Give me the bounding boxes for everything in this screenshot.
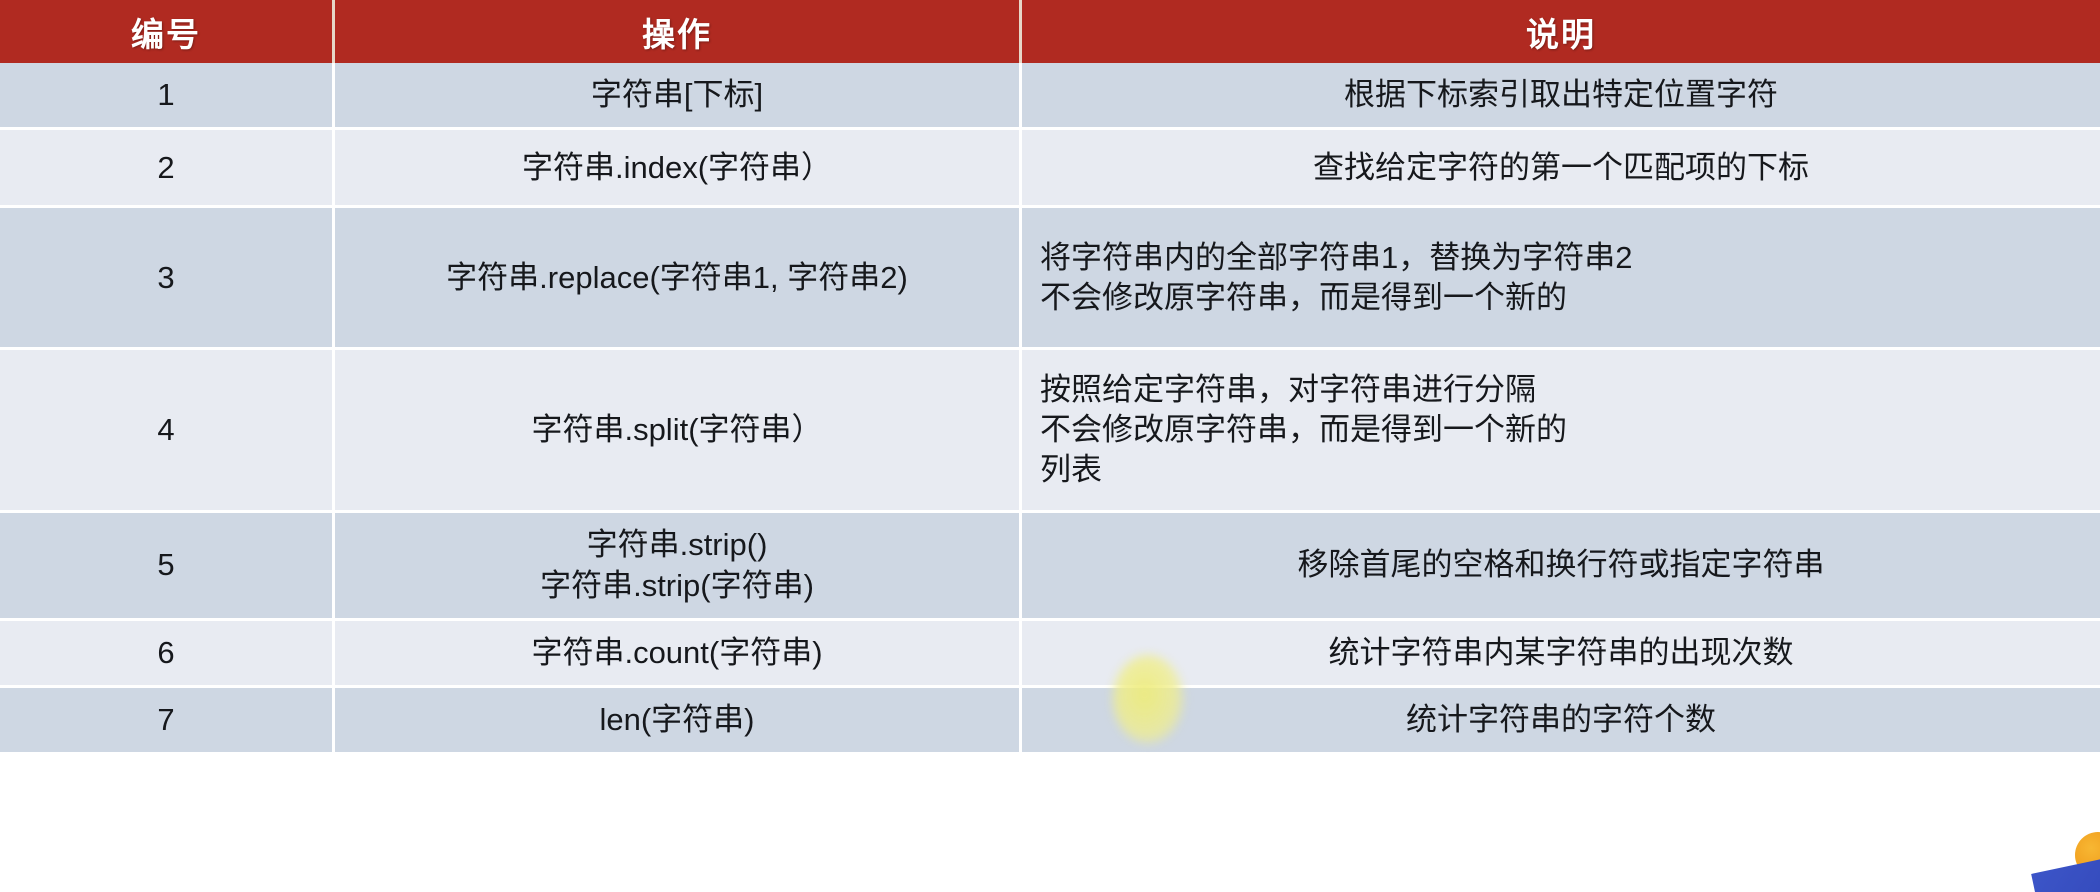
table-row: 2 字符串.index(字符串） 查找给定字符的第一个匹配项的下标 [0,130,2100,208]
cell-description: 按照给定字符串，对字符串进行分隔 不会修改原字符串，而是得到一个新的 列表 [1022,350,2100,513]
cell-operation: 字符串[下标] [335,63,1022,130]
cell-operation: 字符串.replace(字符串1, 字符串2) [335,208,1022,350]
table-row: 5 字符串.strip() 字符串.strip(字符串) 移除首尾的空格和换行符… [0,513,2100,621]
cell-number: 5 [0,513,335,621]
cell-description: 统计字符串的字符个数 [1022,688,2100,755]
table-row: 6 字符串.count(字符串) 统计字符串内某字符串的出现次数 [0,621,2100,688]
corner-white-wedge [2086,800,2100,860]
cell-operation: 字符串.count(字符串) [335,621,1022,688]
string-operations-table: 编号 操作 说明 1 字符串[下标] 根据下标索引取出特定位置字符 2 字符串.… [0,0,2100,755]
table-row: 7 len(字符串) 统计字符串的字符个数 [0,688,2100,755]
table-header: 编号 操作 说明 [0,0,2100,63]
cell-number: 7 [0,688,335,755]
cell-operation: 字符串.index(字符串） [335,130,1022,208]
table-row: 4 字符串.split(字符串） 按照给定字符串，对字符串进行分隔 不会修改原字… [0,350,2100,513]
cell-operation: len(字符串) [335,688,1022,755]
table-body: 1 字符串[下标] 根据下标索引取出特定位置字符 2 字符串.index(字符串… [0,63,2100,755]
cell-description: 统计字符串内某字符串的出现次数 [1022,621,2100,688]
table-row: 1 字符串[下标] 根据下标索引取出特定位置字符 [0,63,2100,130]
cell-number: 3 [0,208,335,350]
cell-number: 2 [0,130,335,208]
header-row: 编号 操作 说明 [0,0,2100,63]
column-header-number: 编号 [0,0,335,63]
cell-description: 根据下标索引取出特定位置字符 [1022,63,2100,130]
cell-description: 移除首尾的空格和换行符或指定字符串 [1022,513,2100,621]
orange-circle-decoration [2075,832,2100,878]
blue-parallelogram-decoration [2031,855,2100,892]
cell-number: 6 [0,621,335,688]
cell-description: 将字符串内的全部字符串1，替换为字符串2 不会修改原字符串，而是得到一个新的 [1022,208,2100,350]
cell-description: 查找给定字符的第一个匹配项的下标 [1022,130,2100,208]
cell-operation: 字符串.split(字符串） [335,350,1022,513]
column-header-operation: 操作 [335,0,1022,63]
cell-number: 1 [0,63,335,130]
cell-operation: 字符串.strip() 字符串.strip(字符串) [335,513,1022,621]
column-header-description: 说明 [1022,0,2100,63]
table-row: 3 字符串.replace(字符串1, 字符串2) 将字符串内的全部字符串1，替… [0,208,2100,350]
slide-canvas: 编号 操作 说明 1 字符串[下标] 根据下标索引取出特定位置字符 2 字符串.… [0,0,2100,892]
cell-number: 4 [0,350,335,513]
